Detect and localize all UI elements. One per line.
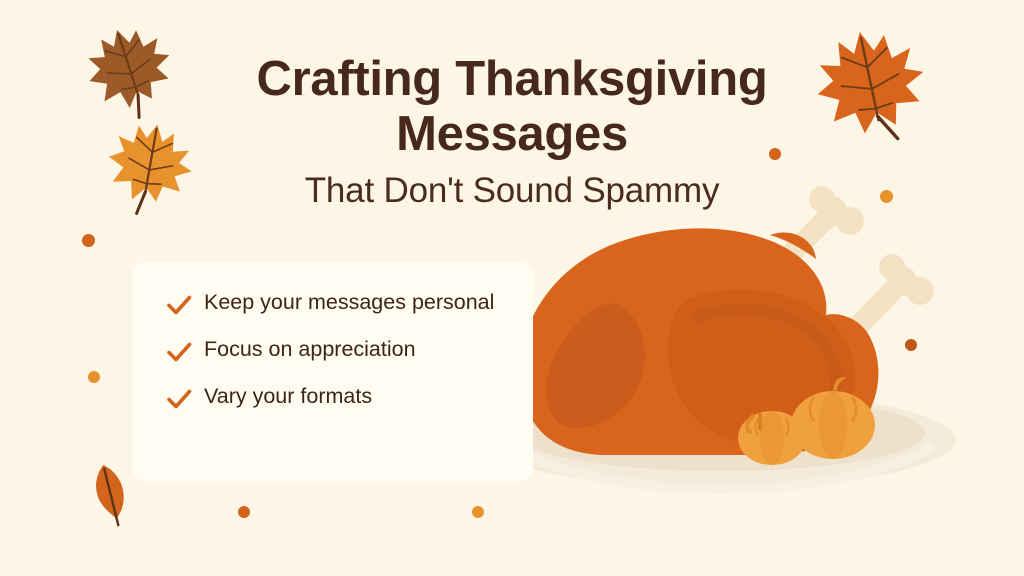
heading-block: Crafting Thanksgiving Messages That Don'…	[0, 52, 1024, 211]
checklist-item-label: Vary your formats	[204, 382, 372, 411]
dot-bottom-center	[472, 506, 484, 518]
page-subtitle: That Don't Sound Spammy	[0, 171, 1024, 211]
list-item[interactable]: Vary your formats	[164, 382, 511, 414]
dot-bottom-left	[238, 506, 250, 518]
checklist-card: Keep your messages personal Focus on app…	[132, 262, 533, 481]
list-item[interactable]: Keep your messages personal	[164, 288, 511, 320]
roast-turkey-illustration	[470, 185, 990, 505]
check-icon	[164, 290, 194, 320]
checklist-item-label: Focus on appreciation	[204, 335, 416, 364]
list-item[interactable]: Focus on appreciation	[164, 335, 511, 367]
checklist-item-label: Keep your messages personal	[204, 288, 494, 317]
slide-canvas: Crafting Thanksgiving Messages That Don'…	[0, 0, 1024, 576]
check-icon	[164, 384, 194, 414]
simple-leaf-orange	[84, 460, 138, 532]
page-title: Crafting Thanksgiving Messages	[0, 52, 1024, 162]
check-icon	[164, 337, 194, 367]
dot-left-upper	[82, 234, 95, 247]
dot-left-lower	[88, 371, 100, 383]
